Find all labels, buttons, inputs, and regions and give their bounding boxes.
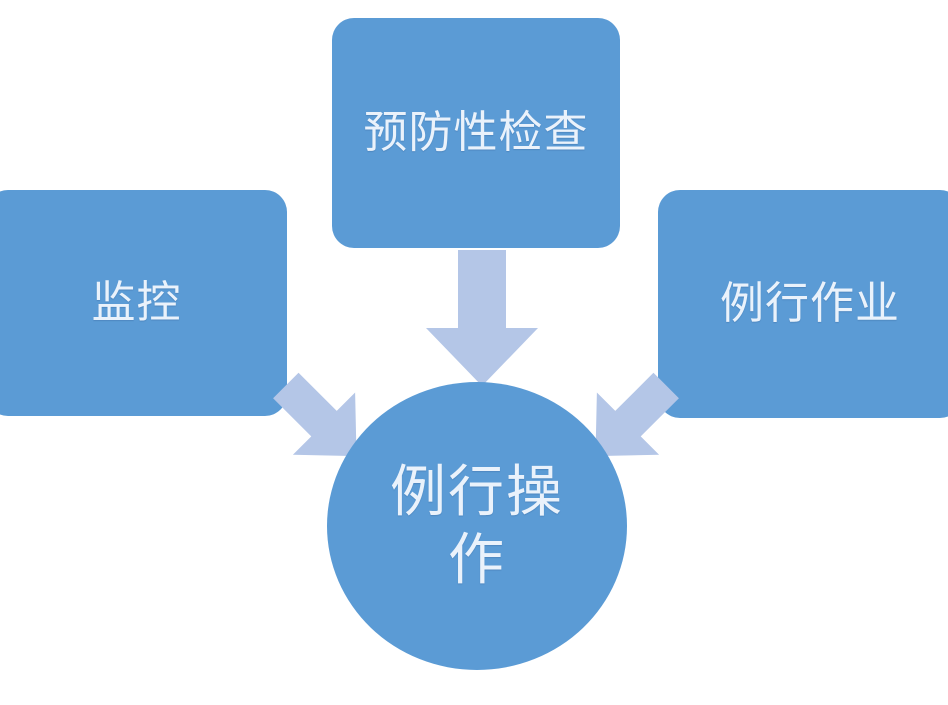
node-preventive-inspection-label: 预防性检查: [354, 108, 599, 159]
diagram-canvas: 预防性检查 监控 例行作业 例行操作: [0, 0, 948, 705]
arrow-down-icon: [420, 250, 544, 386]
node-monitoring[interactable]: 监控: [0, 190, 287, 416]
node-routine-operation[interactable]: 例行操作: [327, 382, 627, 670]
node-monitoring-label: 监控: [82, 278, 192, 329]
node-routine-operation-label: 例行操作: [382, 458, 572, 595]
node-routine-task[interactable]: 例行作业: [658, 190, 948, 418]
node-routine-task-label: 例行作业: [710, 279, 910, 330]
node-preventive-inspection[interactable]: 预防性检查: [332, 18, 620, 248]
